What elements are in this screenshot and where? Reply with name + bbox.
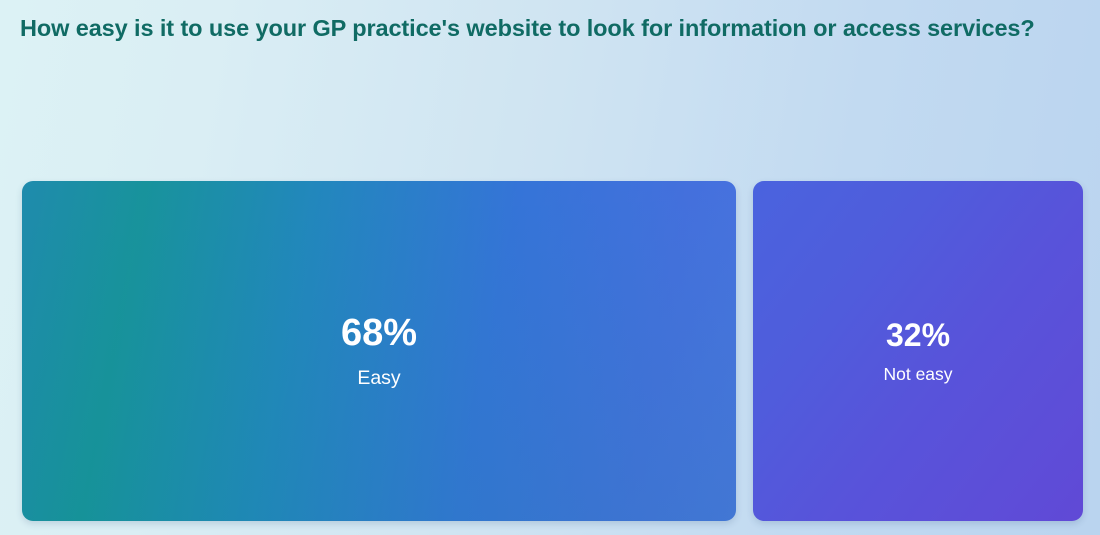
segment-divider: [736, 181, 753, 521]
results-page: How easy is it to use your GP practice's…: [0, 0, 1100, 535]
segment-value-easy: 68%: [341, 314, 417, 352]
page-title: How easy is it to use your GP practice's…: [20, 12, 1080, 44]
segment-content-easy: 68% Easy: [341, 314, 417, 389]
segment-content-not-easy: 32% Not easy: [883, 319, 952, 384]
chart-segment-easy[interactable]: 68% Easy: [22, 181, 736, 521]
chart-segment-not-easy[interactable]: 32% Not easy: [753, 181, 1083, 521]
proportional-bar-chart: 68% Easy 32% Not easy: [22, 181, 1083, 521]
segment-label-easy: Easy: [357, 369, 400, 389]
segment-value-not-easy: 32%: [886, 319, 950, 351]
segment-label-not-easy: Not easy: [883, 366, 952, 384]
